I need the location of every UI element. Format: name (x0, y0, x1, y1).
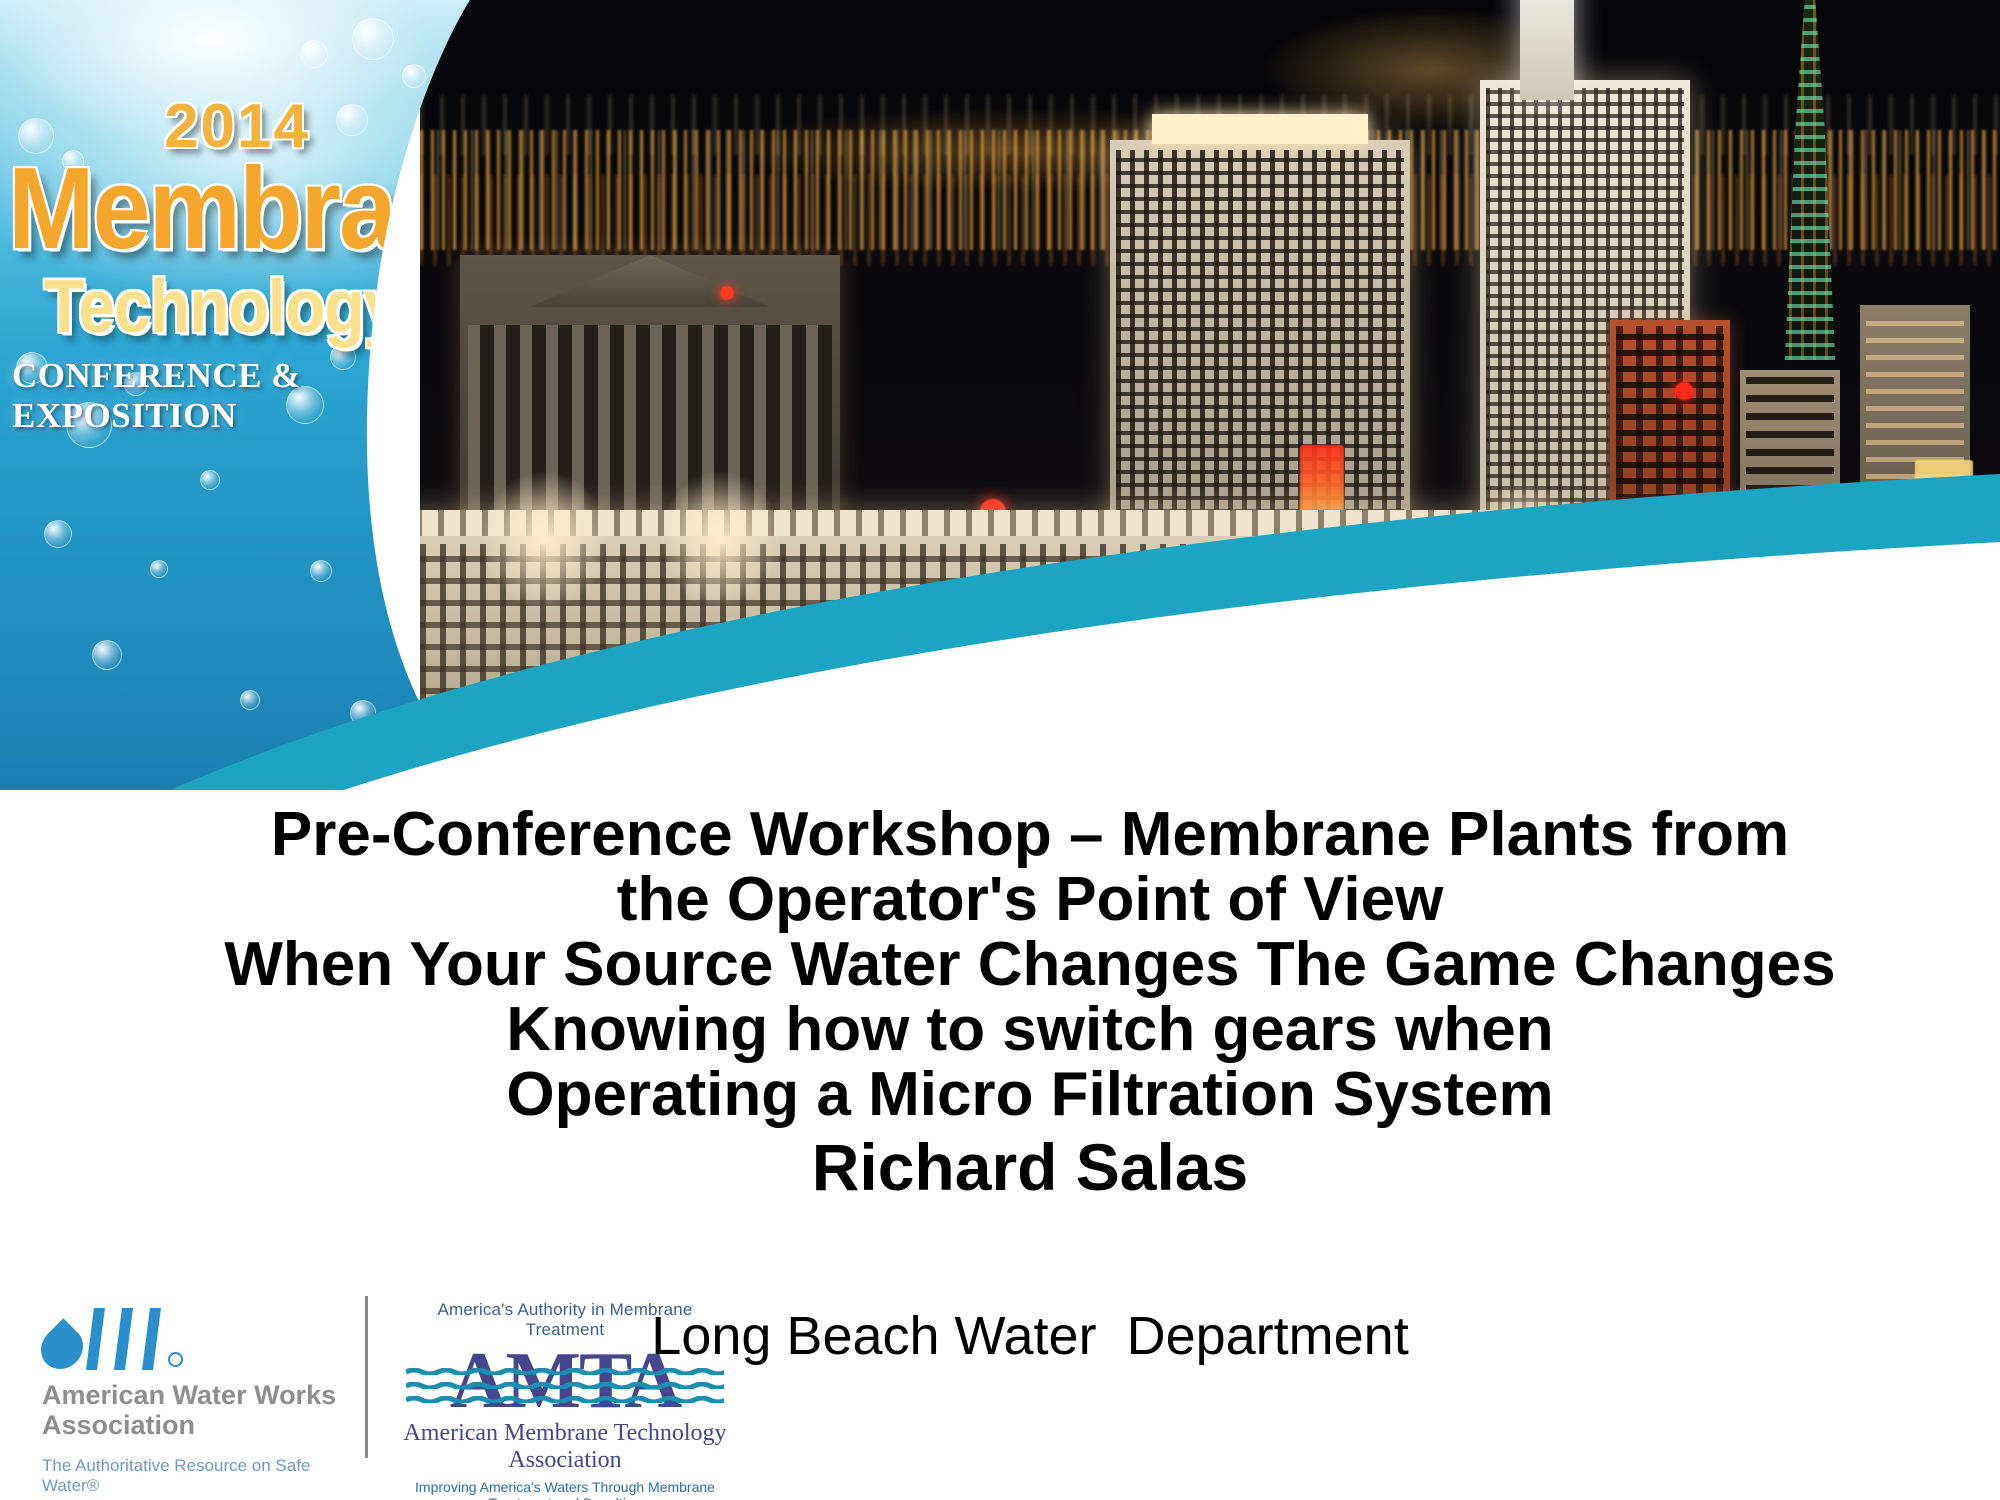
red-beacon-light (720, 286, 734, 300)
amta-logo: America's Authority in Membrane Treatmen… (400, 1300, 730, 1500)
building-illuminated-spire (1765, 0, 1855, 360)
awwa-stripe-icon (142, 1308, 161, 1370)
awwa-stripe-icon (86, 1308, 105, 1370)
amta-wave-icon (406, 1382, 724, 1389)
amta-acronym-mark: AMTA (400, 1344, 730, 1418)
amta-acronym: AMTA (400, 1344, 730, 1418)
facade-floodlight (660, 470, 780, 610)
facade-floodlight (480, 470, 610, 610)
title-line-4: Knowing how to switch gears when (150, 997, 1910, 1062)
bubble-icon (300, 40, 328, 68)
awwa-stripe-icon (114, 1308, 133, 1370)
bubble-icon (310, 560, 332, 582)
conference-title-membrane: Membrane (8, 154, 428, 266)
bubble-icon (352, 18, 394, 60)
spire-lights (1765, 0, 1855, 360)
awwa-droplet-icon (42, 1308, 192, 1370)
red-beacon-light (1675, 382, 1693, 400)
slide-title-block: Pre-Conference Workshop – Membrane Plant… (150, 802, 1910, 1203)
conference-subtitle: CONFERENCE & EXPOSITION (8, 356, 428, 436)
bubble-icon (402, 64, 426, 88)
conference-wordmark: 2014 Membrane Technology CONFERENCE & EX… (8, 96, 428, 436)
title-line-3: When Your Source Water Changes The Game … (150, 932, 1910, 997)
amta-bottom-tagline: Improving America's Waters Through Membr… (400, 1479, 730, 1500)
bubble-icon (200, 470, 220, 490)
water-background-panel: 2014 Membrane Technology CONFERENCE & EX… (0, 0, 470, 790)
amta-wave-icon (406, 1396, 724, 1403)
bubble-icon (150, 560, 168, 578)
water-droplet-icon (32, 1318, 91, 1377)
bubble-icon (240, 690, 260, 710)
awwa-name-line-2: Association (42, 1410, 342, 1440)
awwa-tagline: The Authoritative Resource on Safe Water… (42, 1456, 342, 1496)
amta-wave-icon (406, 1368, 724, 1375)
awwa-name: American Water Works Association (42, 1380, 342, 1440)
title-line-2: the Operator's Point of View (150, 867, 1910, 932)
bubble-icon (44, 520, 72, 548)
logo-divider (365, 1296, 368, 1458)
speaker-name: Richard Salas (150, 1133, 1910, 1202)
amta-top-tagline: America's Authority in Membrane Treatmen… (400, 1300, 730, 1340)
registered-trademark-icon (168, 1352, 183, 1367)
presentation-slide: 2014 Membrane Technology CONFERENCE & EX… (0, 0, 2000, 1500)
building-crown-light (1152, 114, 1368, 144)
building-white-spire (1520, 0, 1574, 100)
awwa-logo: American Water Works Association The Aut… (42, 1308, 342, 1496)
building-pediment (530, 255, 770, 307)
conference-title-technology: Technology (8, 268, 428, 343)
bubble-icon (92, 640, 122, 670)
header-banner: 2014 Membrane Technology CONFERENCE & EX… (0, 0, 2000, 790)
awwa-name-line-1: American Water Works (42, 1380, 342, 1410)
amta-full-name: American Membrane Technology Association (400, 1420, 730, 1474)
title-line-1: Pre-Conference Workshop – Membrane Plant… (150, 802, 1910, 867)
title-line-5: Operating a Micro Filtration System (150, 1062, 1910, 1127)
